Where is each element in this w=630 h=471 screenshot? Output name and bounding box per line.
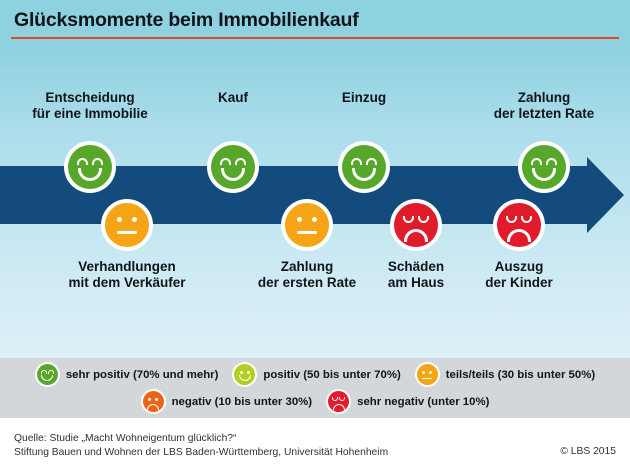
smiley-happy-icon <box>211 145 255 189</box>
eye-right <box>92 158 103 165</box>
mouth-flat <box>422 378 432 380</box>
eye-left <box>220 158 231 165</box>
infographic-root: Glücksmomente beim Immobilienkauf Entsch… <box>0 0 630 471</box>
eye-right <box>155 398 158 401</box>
smiley-happy-icon <box>522 145 566 189</box>
eye-right <box>429 371 432 374</box>
marker-zahlung-letzte-rate[interactable] <box>518 141 570 193</box>
legend-label: negativ (10 bis unter 30%) <box>172 396 313 408</box>
mouth-smile <box>41 375 53 381</box>
legend-item-sehr-positiv[interactable]: sehr positiv (70% und mehr) <box>35 362 219 387</box>
smiley-sad-icon <box>497 203 541 247</box>
marker-zahlung-erste-rate[interactable] <box>281 199 333 251</box>
legend-label: sehr negativ (unter 10%) <box>357 396 489 408</box>
legend-item-sehr-negativ[interactable]: sehr negativ (unter 10%) <box>326 389 489 414</box>
eye-left <box>41 370 47 374</box>
step-label-line2: für eine Immobilie <box>10 106 170 122</box>
timeline-arrow-head <box>587 157 624 233</box>
marker-einzug[interactable] <box>338 141 390 193</box>
mouth-frown <box>333 404 345 410</box>
step-label-line1: Einzug <box>294 90 434 106</box>
step-label-above-0: Entscheidung für eine Immobilie <box>10 90 170 122</box>
mouth-smile <box>352 168 376 181</box>
legend-item-teils-teils[interactable]: teils/teils (30 bis unter 50%) <box>415 362 595 387</box>
legend-label: sehr positiv (70% und mehr) <box>66 369 219 381</box>
smiley-sad-icon <box>326 389 351 414</box>
eye-right <box>132 217 137 222</box>
step-label-line2: der Kinder <box>459 275 579 291</box>
step-label-line1: Schäden <box>356 259 476 275</box>
mouth-flat <box>297 231 317 234</box>
smiley-neutral-icon <box>105 203 149 247</box>
eye-right <box>312 217 317 222</box>
step-label-line2: am Haus <box>356 275 476 291</box>
step-label-above-1: Kauf <box>163 90 303 106</box>
title-bar: Glücksmomente beim Immobilienkauf <box>0 0 630 40</box>
mouth-smile <box>532 168 556 181</box>
eye-right <box>247 371 250 374</box>
eye-right <box>546 158 557 165</box>
source-note: Quelle: Studie „Macht Wohneigentum glück… <box>14 432 388 459</box>
eye-right <box>235 158 246 165</box>
source-line-1: Quelle: Studie „Macht Wohneigentum glück… <box>14 432 388 446</box>
legend: sehr positiv (70% und mehr) positiv (50 … <box>0 358 630 418</box>
eye-right <box>339 397 345 401</box>
legend-icon-face <box>417 364 438 385</box>
step-label-below-0: Verhandlungen mit dem Verkäufer <box>47 259 207 291</box>
eye-left <box>148 398 151 401</box>
smiley-happy-icon <box>35 362 60 387</box>
eye-left <box>422 371 425 374</box>
legend-icon-face <box>37 364 58 385</box>
mouth-smile <box>78 168 102 181</box>
step-label-above-3: Zahlung der letzten Rate <box>464 90 624 122</box>
marker-entscheidung[interactable] <box>64 141 116 193</box>
legend-row-1: sehr positiv (70% und mehr) positiv (50 … <box>0 361 630 388</box>
legend-row-2: negativ (10 bis unter 30%) sehr negativ … <box>0 388 630 415</box>
legend-icon-face <box>328 391 349 412</box>
marker-kauf[interactable] <box>207 141 259 193</box>
eye-left <box>332 397 338 401</box>
smiley-neutral-icon <box>285 203 329 247</box>
smiley-sad-icon <box>141 389 166 414</box>
step-label-line1: Entscheidung <box>10 90 170 106</box>
eye-right <box>418 216 429 223</box>
legend-icon-face <box>143 391 164 412</box>
step-label-line2: mit dem Verkäufer <box>47 275 207 291</box>
source-line-2: Stiftung Bauen und Wohnen der LBS Baden-… <box>14 446 388 460</box>
eye-left <box>351 158 362 165</box>
smiley-happy-icon <box>342 145 386 189</box>
smiley-neutral-icon <box>415 362 440 387</box>
eye-right <box>366 158 377 165</box>
marker-auszug[interactable] <box>493 199 545 251</box>
step-label-above-2: Einzug <box>294 90 434 106</box>
eye-left <box>531 158 542 165</box>
smiley-happy-icon <box>68 145 112 189</box>
mouth-frown <box>404 229 428 242</box>
eye-left <box>240 371 243 374</box>
step-label-line1: Zahlung <box>464 90 624 106</box>
step-label-below-2: Schäden am Haus <box>356 259 476 291</box>
step-label-line2: der letzten Rate <box>464 106 624 122</box>
mouth-smile <box>239 375 251 381</box>
legend-item-negativ[interactable]: negativ (10 bis unter 30%) <box>141 389 313 414</box>
mouth-frown <box>147 404 159 410</box>
copyright-note: © LBS 2015 <box>560 446 616 457</box>
step-label-line1: Kauf <box>163 90 303 106</box>
marker-verhandlungen[interactable] <box>101 199 153 251</box>
smiley-happy-icon <box>232 362 257 387</box>
step-label-below-3: Auszug der Kinder <box>459 259 579 291</box>
page-title: Glücksmomente beim Immobilienkauf <box>14 9 359 32</box>
eye-right <box>48 370 54 374</box>
eye-left <box>403 216 414 223</box>
mouth-flat <box>117 231 137 234</box>
smiley-sad-icon <box>394 203 438 247</box>
legend-label: teils/teils (30 bis unter 50%) <box>446 369 595 381</box>
mouth-frown <box>507 229 531 242</box>
legend-label: positiv (50 bis unter 70%) <box>263 369 400 381</box>
step-label-line1: Verhandlungen <box>47 259 207 275</box>
eye-left <box>117 217 122 222</box>
eye-left <box>297 217 302 222</box>
eye-left <box>77 158 88 165</box>
legend-item-positiv[interactable]: positiv (50 bis unter 70%) <box>232 362 400 387</box>
step-label-line1: Auszug <box>459 259 579 275</box>
eye-left <box>506 216 517 223</box>
marker-schaeden[interactable] <box>390 199 442 251</box>
eye-right <box>521 216 532 223</box>
title-divider <box>11 37 619 39</box>
mouth-smile <box>221 168 245 181</box>
